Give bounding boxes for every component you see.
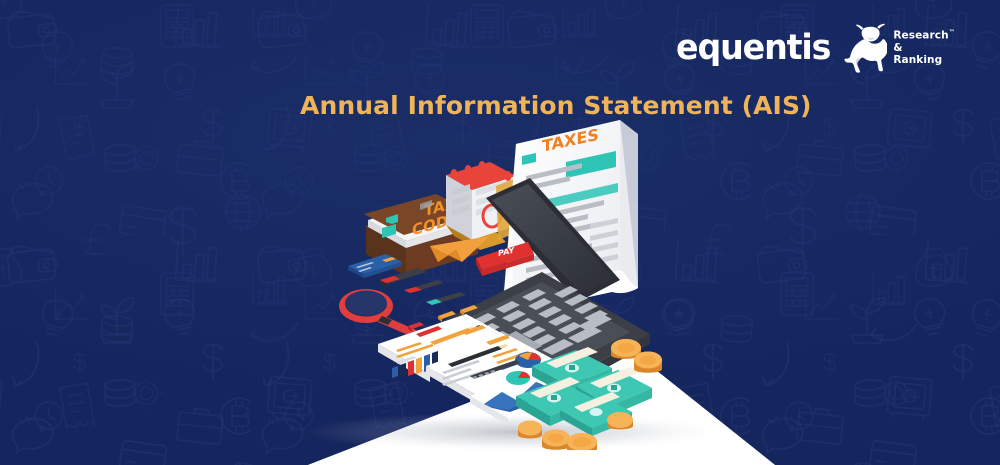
tagline-ranking: Ranking — [893, 54, 942, 66]
bull-icon — [837, 22, 887, 74]
tax-filing-illustration: TAX CODE — [320, 120, 740, 450]
tagline-research: Research — [893, 30, 948, 42]
banner: equentis Research™ & Ranking — [0, 0, 1000, 465]
page-title: Annual Information Statement (AIS) — [300, 91, 812, 120]
trademark-symbol: ™ — [949, 29, 955, 36]
brand-logo[interactable]: equentis Research™ & Ranking — [672, 22, 955, 74]
tagline-ampersand: & — [893, 42, 902, 54]
brand-wordmark: equentis — [676, 31, 830, 66]
brand-tagline: Research™ & Ranking — [893, 29, 954, 67]
stylus-devices — [380, 268, 466, 305]
